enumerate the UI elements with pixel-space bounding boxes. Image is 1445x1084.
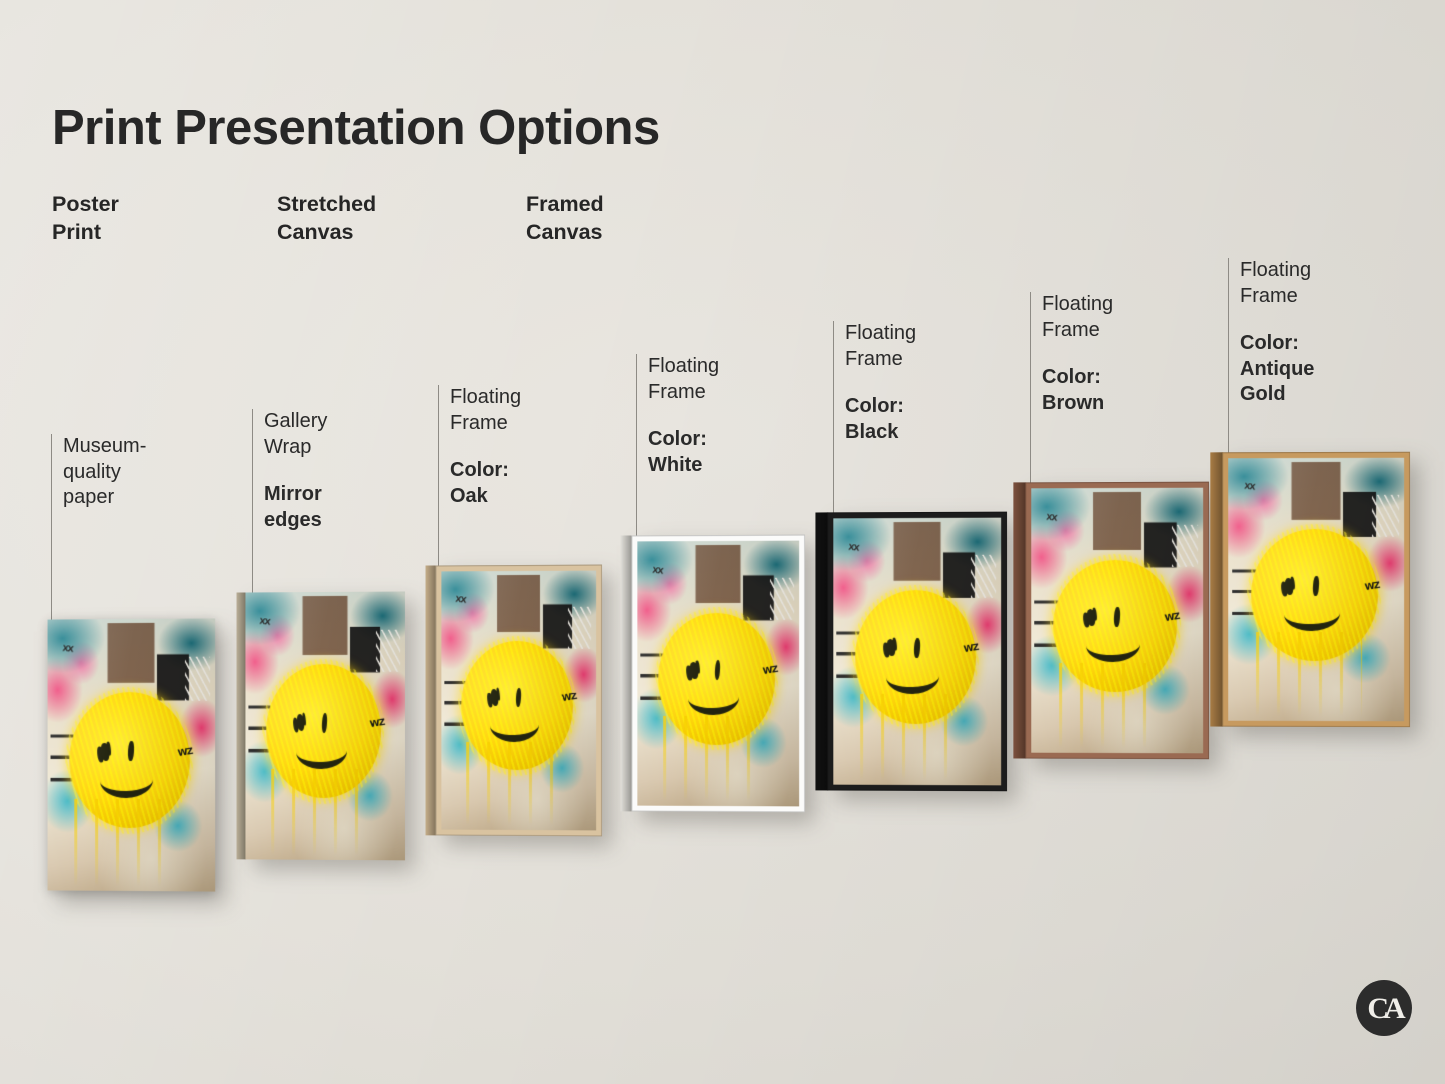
svg-text:CA: CA — [1367, 992, 1406, 1025]
callout-secondary-label: Color: Oak — [450, 458, 600, 509]
category-heading-poster-print: Poster Print — [52, 190, 119, 247]
smiley-graffiti-artwork: WZXX — [441, 571, 596, 831]
smiley-graffiti-artwork: WZXX — [245, 592, 405, 861]
callout-text: Museum- quality paper — [63, 434, 213, 511]
graffiti-scribble-icon — [971, 555, 996, 598]
smiley-graffiti-artwork: WZXX — [637, 541, 799, 807]
leader-line-icon — [833, 321, 834, 515]
graffiti-tag-right-icon: WZ — [1365, 583, 1380, 592]
picture-frame: WZXX — [1222, 452, 1410, 728]
leader-line-icon — [51, 434, 52, 622]
leader-line-icon — [636, 354, 637, 540]
leader-line-icon — [1030, 292, 1031, 484]
category-heading-framed-canvas: Framed Canvas — [526, 190, 604, 247]
ca-monogram-icon: CA — [1356, 980, 1412, 1036]
callout-text: Floating FrameColor: Antique Gold — [1240, 258, 1390, 408]
callout-primary-label: Museum- quality paper — [63, 434, 213, 511]
page-title: Print Presentation Options — [52, 100, 660, 156]
callout-secondary-label: Color: White — [648, 427, 798, 478]
smiley-graffiti-artwork: WZXX — [1031, 488, 1203, 754]
callout-text: Floating FrameColor: Oak — [450, 385, 600, 509]
leader-line-icon — [1228, 258, 1229, 454]
callout-secondary-label: Color: Black — [845, 394, 995, 445]
callout-primary-label: Floating Frame — [450, 385, 600, 436]
leader-line-icon — [438, 385, 439, 571]
framed-oak-artwork[interactable]: WZXX — [435, 565, 602, 837]
callout-primary-label: Gallery Wrap — [264, 409, 414, 460]
framed-black-artwork[interactable]: WZXX — [827, 512, 1007, 792]
picture-frame: WZXX — [1025, 482, 1209, 760]
callout-primary-label: Floating Frame — [1042, 292, 1192, 343]
callout-text: Floating FrameColor: White — [648, 354, 798, 478]
framed-white-artwork[interactable]: WZXX — [631, 535, 805, 813]
stretched-canvas-artwork[interactable]: WZXX — [245, 592, 405, 861]
graffiti-tag-right-icon: WZ — [178, 748, 193, 757]
surface-glaze — [441, 571, 596, 831]
canvas-body: WZXX — [245, 592, 405, 861]
brand-logo[interactable]: CA — [1356, 980, 1412, 1036]
callout-primary-label: Floating Frame — [845, 321, 995, 372]
callout-text: Floating FrameColor: Brown — [1042, 292, 1192, 416]
category-heading-stretched-canvas: Stretched Canvas — [277, 190, 376, 247]
graffiti-scribble-icon — [1172, 525, 1198, 568]
surface-glaze — [245, 592, 405, 861]
surface-glaze — [1031, 488, 1203, 754]
picture-frame: WZXX — [631, 535, 805, 813]
picture-frame: WZXX — [435, 565, 602, 837]
picture-frame: WZXX — [827, 512, 1007, 792]
leader-line-icon — [252, 409, 253, 599]
smiley-graffiti-artwork: WZXX — [48, 618, 216, 891]
poster-print-artwork[interactable]: WZXX — [48, 618, 216, 891]
surface-glaze — [1228, 458, 1404, 722]
callout-secondary-label: Color: Brown — [1042, 365, 1192, 416]
framed-antique-gold-artwork[interactable]: WZXX — [1222, 452, 1410, 728]
graffiti-tag-right-icon: WZ — [1165, 614, 1180, 623]
surface-glaze — [637, 541, 799, 807]
callout-primary-label: Floating Frame — [648, 354, 798, 405]
smiley-graffiti-artwork: WZXX — [1228, 458, 1404, 722]
callout-secondary-label: Mirror edges — [264, 482, 414, 533]
poster-sheet: WZXX — [48, 618, 216, 891]
smiley-graffiti-artwork: WZXX — [833, 518, 1001, 786]
framed-brown-artwork[interactable]: WZXX — [1025, 482, 1209, 760]
graffiti-scribble-icon — [1372, 495, 1398, 537]
callout-primary-label: Floating Frame — [1240, 258, 1390, 309]
graffiti-tag-right-icon: WZ — [964, 645, 979, 654]
graffiti-scribble-icon — [770, 578, 794, 621]
callout-text: Gallery WrapMirror edges — [264, 409, 414, 533]
graffiti-scribble-icon — [185, 657, 210, 701]
surface-glaze — [833, 518, 1001, 786]
callout-secondary-label: Color: Antique Gold — [1240, 331, 1390, 408]
surface-glaze — [48, 618, 216, 891]
callout-text: Floating FrameColor: Black — [845, 321, 995, 445]
